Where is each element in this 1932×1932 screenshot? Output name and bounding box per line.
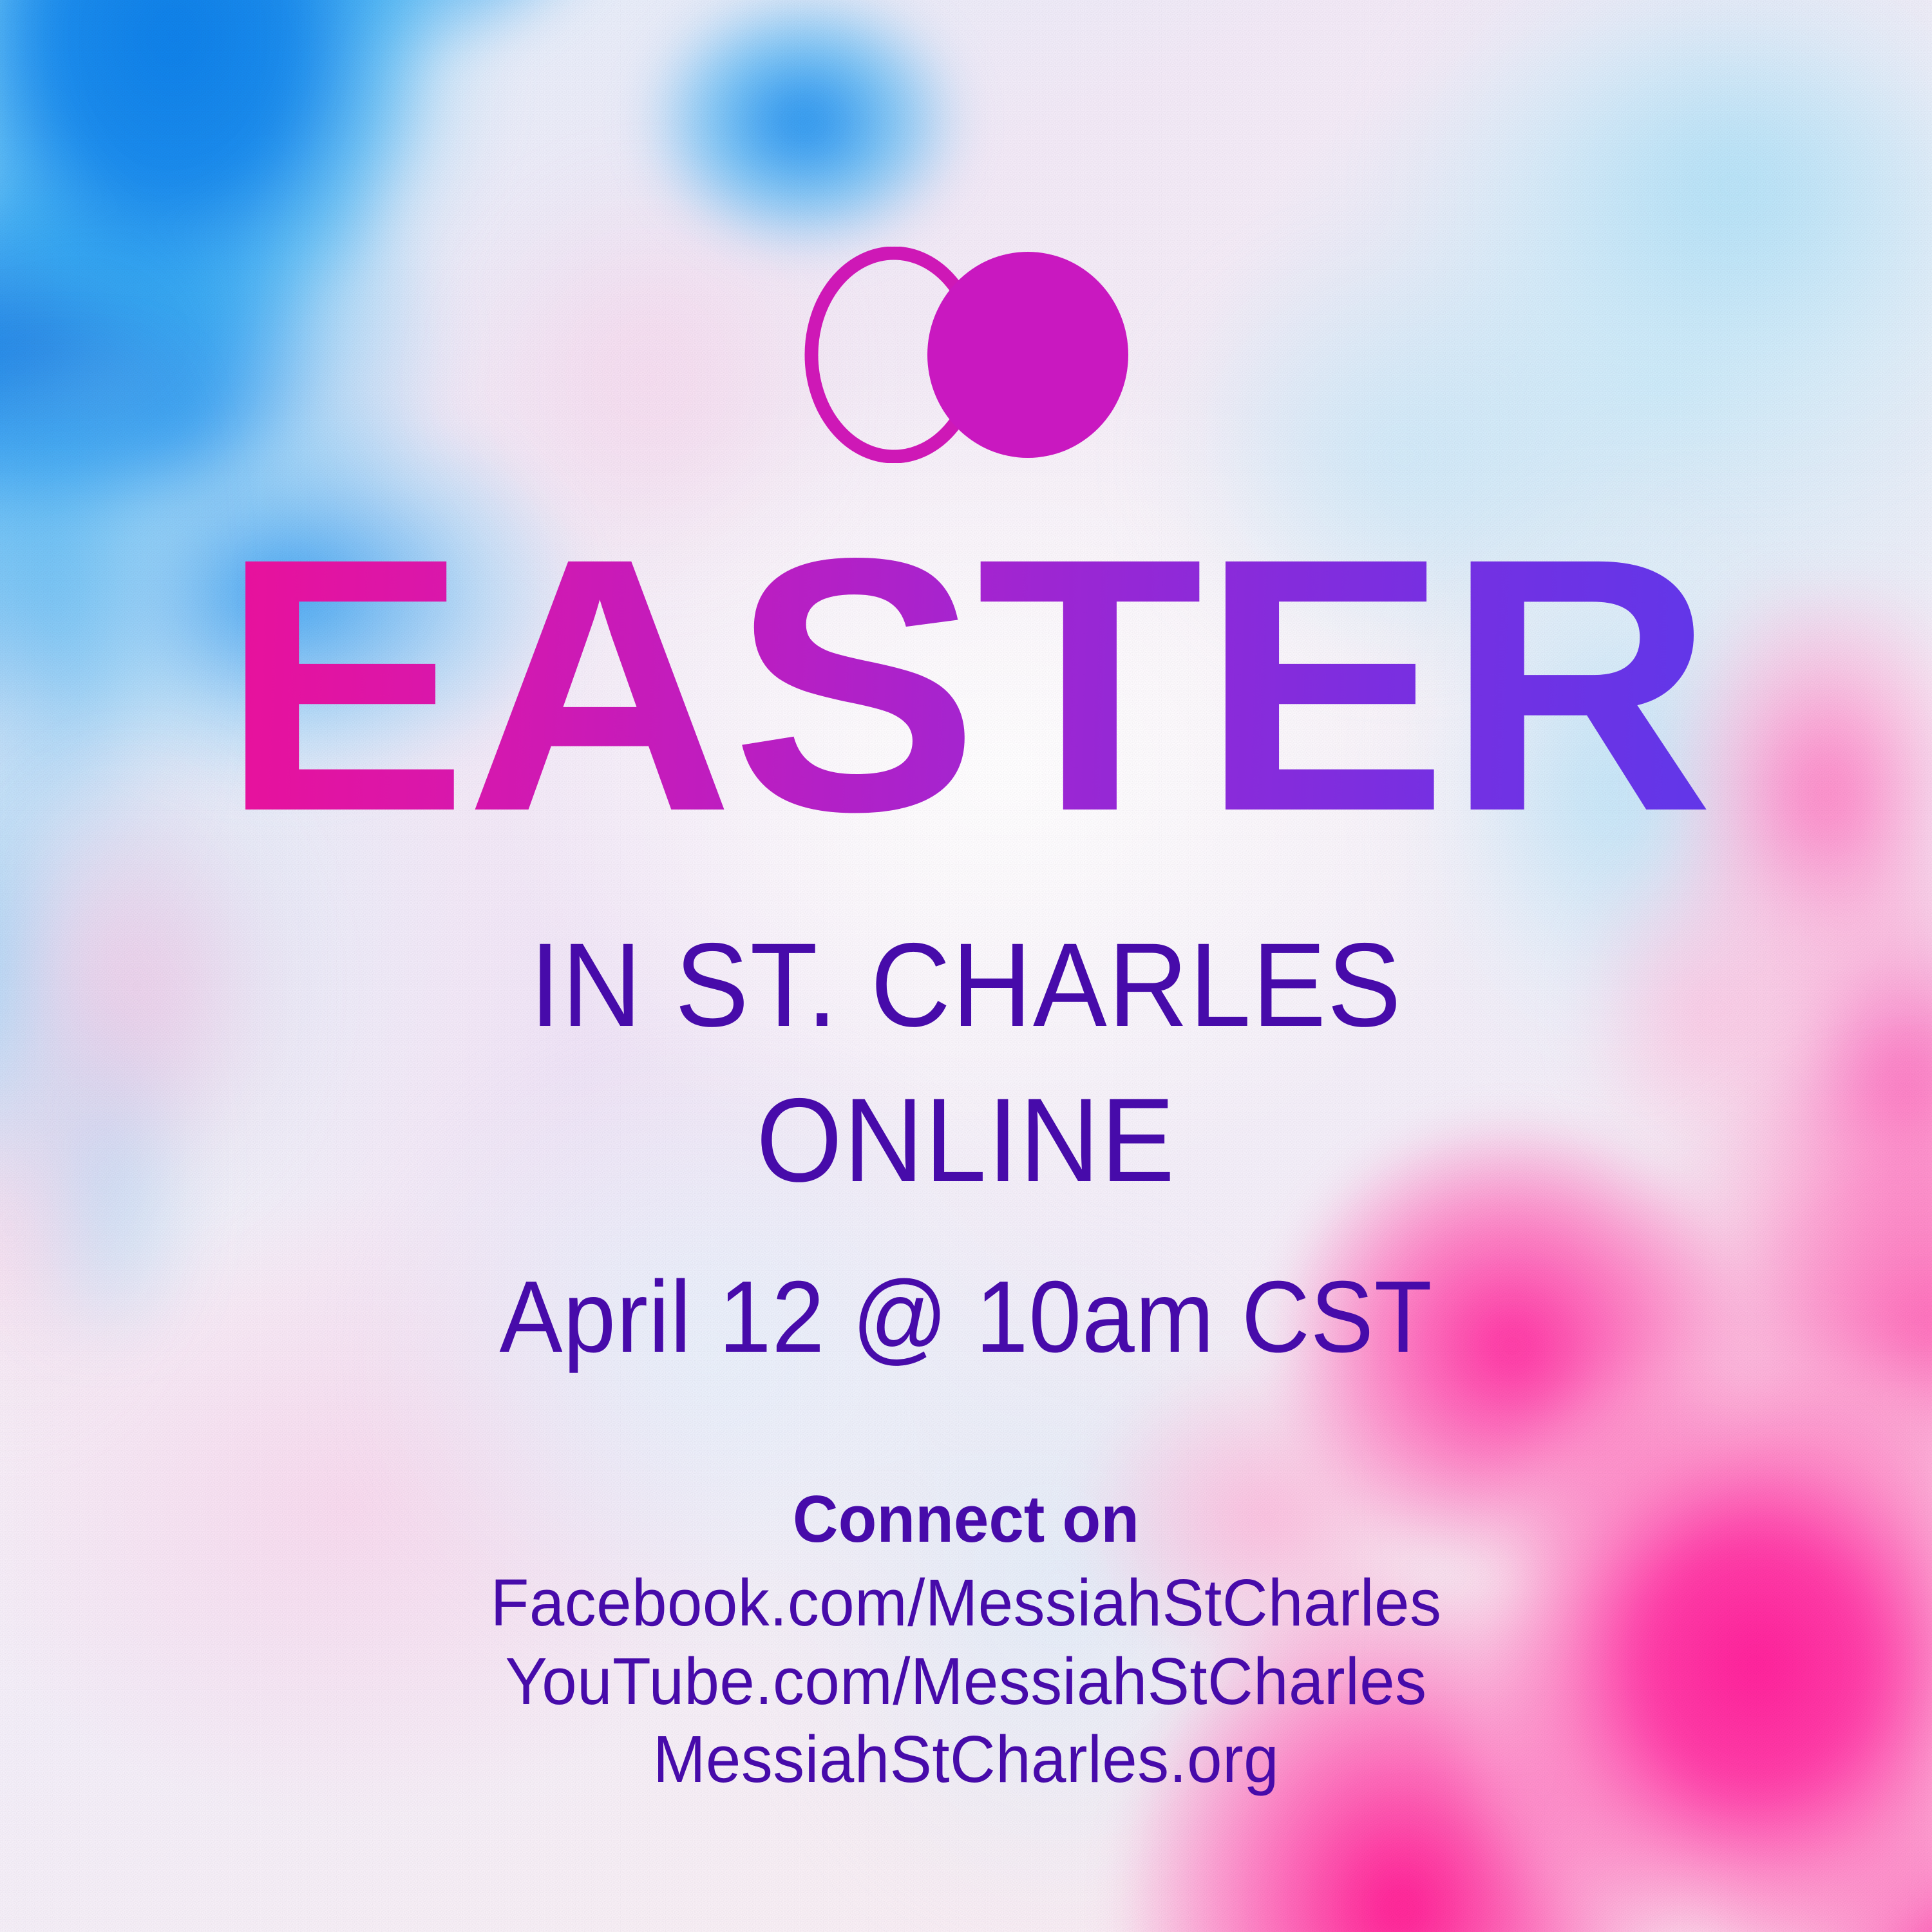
connect-block: Connect on Facebook.com/MessiahStCharles… bbox=[0, 1481, 1932, 1799]
brand-logo bbox=[801, 247, 1136, 463]
subtitle-line-2: ONLINE bbox=[68, 1063, 1864, 1218]
poster-content: EASTER IN ST. CHARLES ONLINE April 12 @ … bbox=[0, 0, 1932, 1932]
connect-link-youtube[interactable]: YouTube.com/MessiahStCharles bbox=[48, 1642, 1884, 1721]
connect-heading: Connect on bbox=[48, 1481, 1884, 1557]
logo-filled-circle bbox=[927, 252, 1128, 458]
page-title: EASTER bbox=[0, 519, 1932, 851]
event-datetime: April 12 @ 10am CST bbox=[68, 1259, 1864, 1376]
poster-canvas: EASTER IN ST. CHARLES ONLINE April 12 @ … bbox=[0, 0, 1932, 1932]
connect-link-facebook[interactable]: Facebook.com/MessiahStCharles bbox=[48, 1564, 1884, 1642]
connect-link-website[interactable]: MessiahStCharles.org bbox=[48, 1720, 1884, 1799]
two-overlapping-circles-logo-icon bbox=[801, 247, 1136, 463]
subtitle: IN ST. CHARLES ONLINE bbox=[68, 908, 1864, 1218]
subtitle-line-1: IN ST. CHARLES bbox=[68, 908, 1864, 1063]
